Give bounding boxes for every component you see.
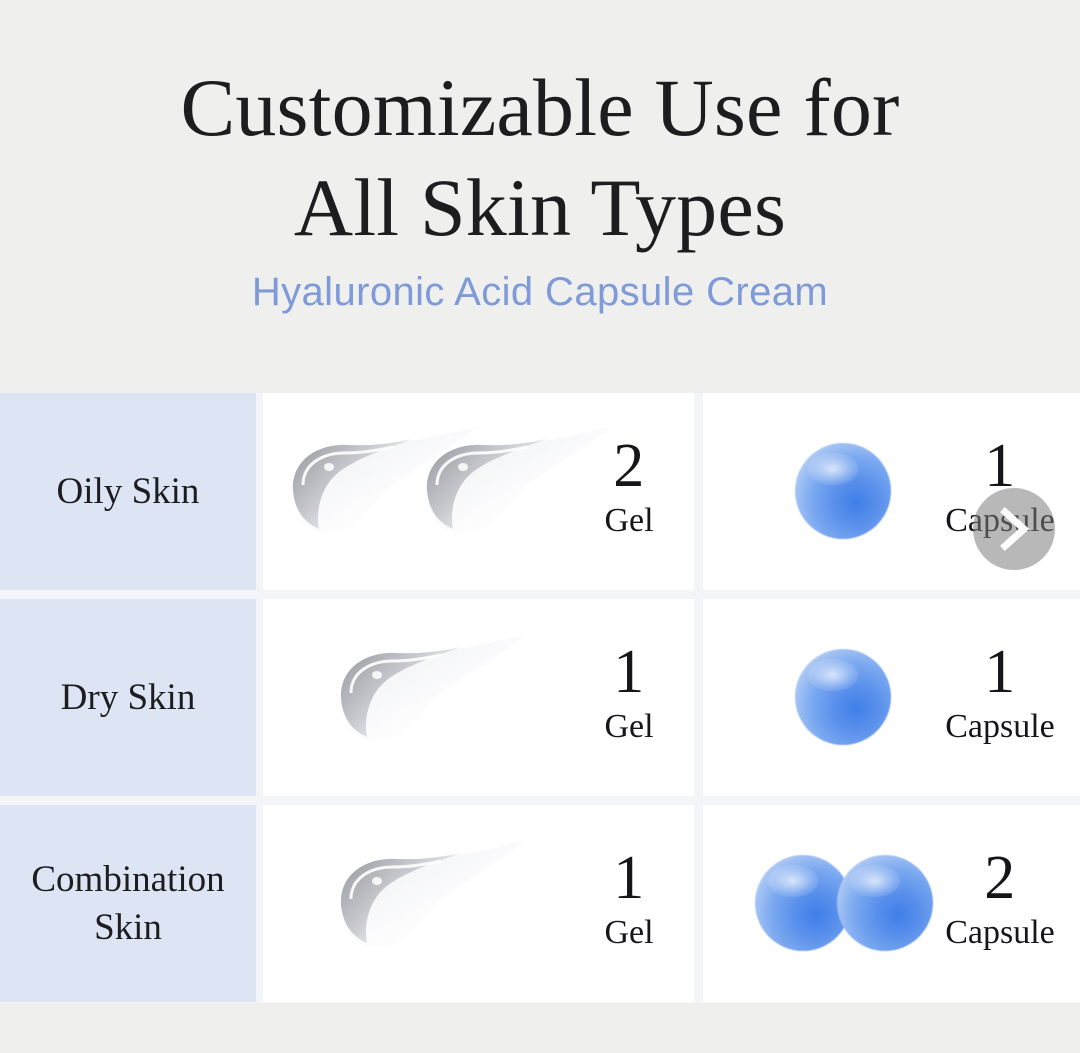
capsule-sphere-art <box>703 393 920 590</box>
capsule-count: 1 Capsule <box>920 643 1080 753</box>
capsule-sphere-icon <box>795 649 891 745</box>
skin-type-label: Combination Skin <box>0 805 256 1002</box>
capsule-count-number: 2 <box>920 849 1080 908</box>
gel-swatch-art <box>263 393 568 590</box>
capsule-amount-cell: 1 Capsule <box>703 599 1080 796</box>
carousel-next-button[interactable] <box>973 488 1055 570</box>
gel-count: 1 Gel <box>568 849 694 959</box>
capsule-count-unit: Capsule <box>920 701 1080 752</box>
product-subtitle: Hyaluronic Acid Capsule Cream <box>0 270 1080 315</box>
gel-count: 1 Gel <box>568 643 694 753</box>
capsule-count-number: 1 <box>920 643 1080 702</box>
gel-count-unit: Gel <box>568 907 690 958</box>
capsule-amount-cell: 2 Capsule <box>703 805 1080 1002</box>
gel-amount-cell: 1 Gel <box>263 805 694 1002</box>
page-title: Customizable Use for All Skin Types <box>0 58 1080 258</box>
gel-amount-cell: 2 Gel <box>263 393 694 590</box>
capsule-count: 2 Capsule <box>920 849 1080 959</box>
gel-count-number: 1 <box>568 643 690 702</box>
capsule-sphere-icon <box>795 443 891 539</box>
table-row: Combination Skin <box>0 805 1080 1002</box>
chevron-right-icon <box>997 507 1031 551</box>
gel-count-number: 1 <box>568 849 690 908</box>
header-banner: Customizable Use for All Skin Types Hyal… <box>0 0 1080 393</box>
gel-swatch-icon <box>411 421 631 551</box>
gel-swatch-icon <box>325 835 545 965</box>
gel-amount-cell: 1 Gel <box>263 599 694 796</box>
table-row: Oily Skin <box>0 393 1080 590</box>
footer-strip <box>0 1003 1080 1053</box>
capsule-sphere-art <box>703 599 920 796</box>
table-row: Dry Skin <box>0 599 1080 796</box>
capsule-sphere-art <box>703 805 920 1002</box>
capsule-count-number: 1 <box>920 437 1080 496</box>
usage-table: Oily Skin <box>0 393 1080 1003</box>
gel-swatch-art <box>263 805 568 1002</box>
capsule-sphere-icon <box>837 855 933 951</box>
product-detail-image: Customizable Use for All Skin Types Hyal… <box>0 0 1080 1053</box>
skin-type-label: Dry Skin <box>0 599 256 796</box>
capsule-count-unit: Capsule <box>920 907 1080 958</box>
skin-type-label: Oily Skin <box>0 393 256 590</box>
gel-swatch-art <box>263 599 568 796</box>
gel-count-unit: Gel <box>568 701 690 752</box>
gel-swatch-icon <box>325 629 545 759</box>
